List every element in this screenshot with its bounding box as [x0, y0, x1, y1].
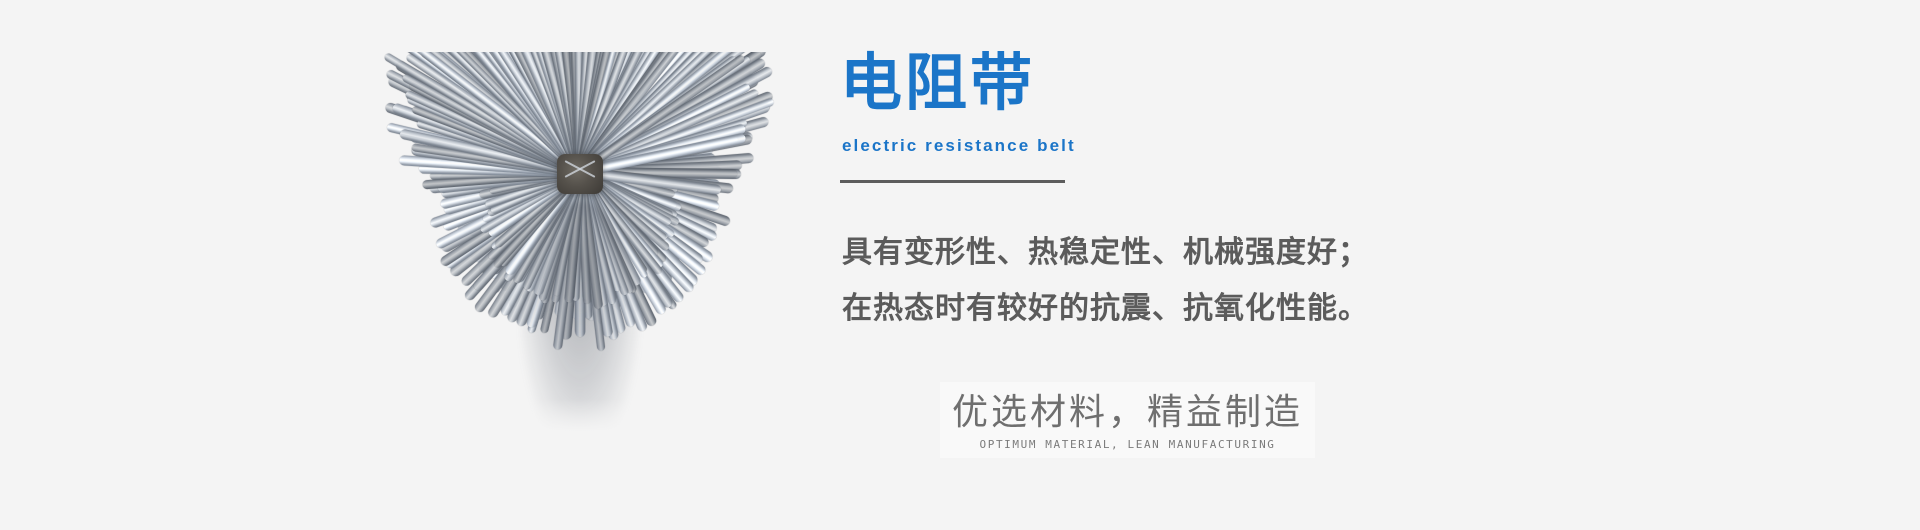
product-bottom-fade	[370, 399, 790, 437]
product-burst-stage	[370, 52, 790, 437]
watermark-slogan-cn: 优选材料，精益制造	[952, 390, 1303, 436]
product-image	[370, 52, 790, 437]
page-title: 电阻带	[840, 52, 1035, 114]
description-line-2: 在热态时有较好的抗震、抗氧化性能。	[842, 281, 1482, 337]
description-line-1: 具有变形性、热稳定性、机械强度好；	[842, 225, 1482, 281]
product-banner: 电阻带 electric resistance belt 具有变形性、热稳定性、…	[0, 0, 1920, 530]
watermark: 优选材料，精益制造 OPTIMUM MATERIAL, LEAN MANUFAC…	[940, 382, 1315, 458]
page-subtitle: electric resistance belt	[842, 137, 1076, 154]
title-divider	[840, 180, 1065, 183]
banner-content: 电阻带 electric resistance belt 具有变形性、热稳定性、…	[840, 0, 1740, 530]
watermark-slogan-en: OPTIMUM MATERIAL, LEAN MANUFACTURING	[952, 438, 1303, 452]
product-description: 具有变形性、热稳定性、机械强度好； 在热态时有较好的抗震、抗氧化性能。	[842, 225, 1482, 337]
product-hub	[557, 154, 603, 194]
